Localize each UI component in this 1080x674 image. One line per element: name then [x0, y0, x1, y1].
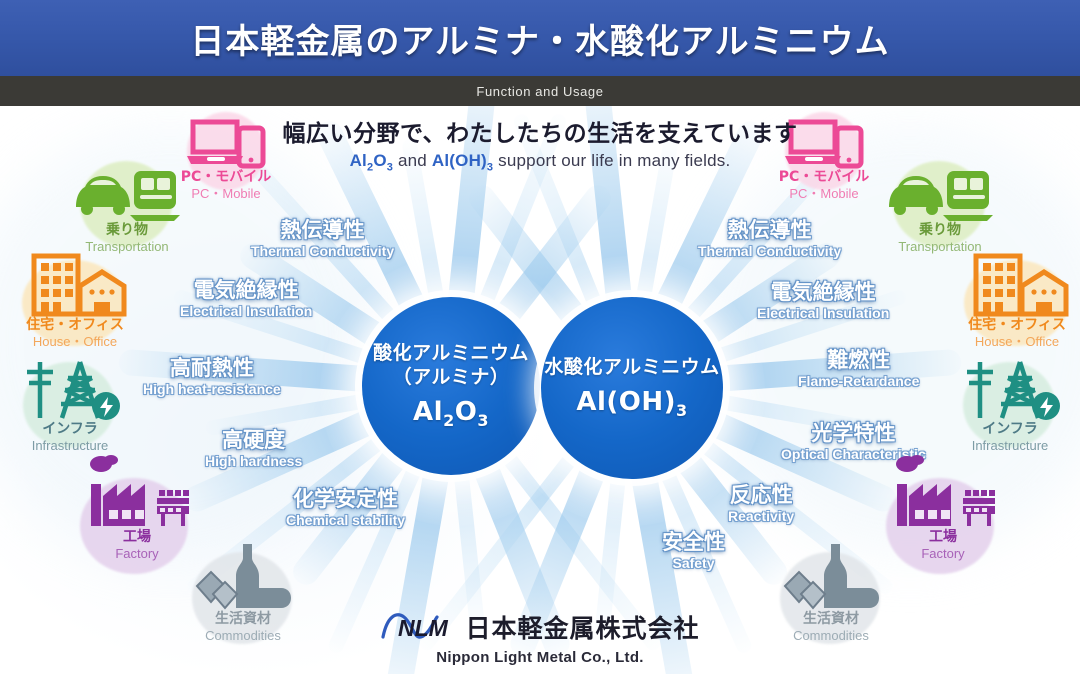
app-label-jp: 工場 [72, 530, 202, 545]
property-jp: 反応性 [728, 483, 794, 507]
property-right-reactivity: 反応性 Reactivity [728, 483, 794, 524]
buildings-icon [10, 256, 140, 318]
property-right-thermal-conductivity: 熱伝導性 Thermal Conductivity [698, 218, 841, 259]
app-label-jp: 生活資材 [178, 612, 308, 627]
property-jp: 熱伝導性 [251, 218, 394, 242]
property-left-high-heat-resistance: 高耐熱性 High heat-resistance [143, 356, 281, 397]
factory-icon [878, 468, 1008, 530]
property-en: Thermal Conductivity [251, 243, 394, 259]
app-label-en: Transportation [875, 239, 1005, 255]
property-left-thermal-conductivity: 熱伝導性 Thermal Conductivity [251, 218, 394, 259]
logo-row: NLM 日本軽金属株式会社 [380, 607, 699, 647]
app-label-jp: 乗り物 [875, 223, 1005, 238]
nlm-logo-mark: NLM [380, 607, 458, 647]
property-en: High heat-resistance [143, 381, 281, 397]
app-label-jp: インフラ [5, 422, 135, 437]
property-jp: 電気絶縁性 [757, 280, 889, 304]
property-left-chemical-stability: 化学安定性 Chemical stability [286, 487, 405, 528]
headline-jp: 幅広い分野で、わたしたちの生活を支えています [0, 114, 1080, 148]
logo-company-en: Nippon Light Metal Co., Ltd. [436, 649, 644, 666]
app-label-jp: 乗り物 [62, 223, 192, 238]
property-en: Electrical Insulation [757, 305, 889, 321]
app-label-en: PC・Mobile [161, 186, 291, 202]
property-jp: 安全性 [662, 530, 725, 554]
app-label-en: House・Office [952, 334, 1080, 350]
core-circle-alumina[interactable]: 酸化アルミニウム （アルミナ） Al2O3 [362, 297, 540, 475]
property-right-flame-retardance: 難燃性 Flame-Retardance [798, 348, 919, 389]
app-right-factory[interactable]: 工場 Factory [878, 468, 1008, 562]
property-en: Safety [662, 555, 725, 571]
app-label-jp: 住宅・オフィス [10, 318, 140, 333]
property-jp: 高耐熱性 [143, 356, 281, 380]
app-label-en: Factory [72, 546, 202, 562]
app-left-factory[interactable]: 工場 Factory [72, 468, 202, 562]
app-left-house-office[interactable]: 住宅・オフィス House・Office [10, 256, 140, 350]
app-label-en: Commodities [178, 628, 308, 644]
app-label-en: House・Office [10, 334, 140, 350]
app-label-en: Factory [878, 546, 1008, 562]
app-label-jp: 住宅・オフィス [952, 318, 1080, 333]
factory-icon [72, 468, 202, 530]
headline-block: 幅広い分野で、わたしたちの生活を支えています Al2O3 and Al(OH)3… [0, 114, 1080, 173]
property-jp: 熱伝導性 [698, 218, 841, 242]
logo-company-jp: 日本軽金属株式会社 [465, 609, 699, 645]
app-left-infrastructure[interactable]: インフラ Infrastructure [5, 360, 135, 454]
app-label-jp: インフラ [945, 422, 1075, 437]
app-right-house-office[interactable]: 住宅・オフィス House・Office [952, 256, 1080, 350]
property-en: Flame-Retardance [798, 373, 919, 389]
app-label-en: PC・Mobile [759, 186, 889, 202]
core-right-jp-line1: 水酸化アルミニウム [544, 356, 719, 380]
headline-en: Al2O3 and Al(OH)3 support our life in ma… [0, 151, 1080, 173]
app-label-jp: 工場 [878, 530, 1008, 545]
app-label-en: Transportation [62, 239, 192, 255]
app-label-en: Infrastructure [945, 438, 1075, 454]
header-banner: 日本軽金属のアルミナ・水酸化アルミニウム [0, 0, 1080, 76]
power-tower-icon [5, 360, 135, 422]
property-right-safety: 安全性 Safety [662, 530, 725, 571]
bottle-gems-icon [766, 550, 896, 612]
property-jp: 化学安定性 [286, 487, 405, 511]
app-label-en: Commodities [766, 628, 896, 644]
core-left-jp-line1: 酸化アルミニウム [373, 342, 529, 366]
app-right-commodities[interactable]: 生活資材 Commodities [766, 550, 896, 644]
property-jp: 高硬度 [205, 428, 302, 452]
property-right-electrical-insulation: 電気絶縁性 Electrical Insulation [757, 280, 889, 321]
app-label-en: Infrastructure [5, 438, 135, 454]
page-title: 日本軽金属のアルミナ・水酸化アルミニウム [190, 14, 889, 63]
header-subbar: Function and Usage [0, 76, 1080, 106]
power-tower-icon [945, 360, 1075, 422]
property-en: Reactivity [728, 508, 794, 524]
diagram-stage: 酸化アルミニウム （アルミナ） Al2O3 水酸化アルミニウム Al(OH)3 … [0, 106, 1080, 674]
core-right-formula: Al(OH)3 [576, 387, 687, 420]
svg-text:NLM: NLM [398, 615, 449, 641]
company-logo: NLM 日本軽金属株式会社 Nippon Light Metal Co., Lt… [0, 607, 1080, 666]
property-en: Thermal Conductivity [698, 243, 841, 259]
property-jp: 電気絶縁性 [180, 278, 312, 302]
app-right-infrastructure[interactable]: インフラ Infrastructure [945, 360, 1075, 454]
infographic-page: 日本軽金属のアルミナ・水酸化アルミニウム Function and Usage … [0, 0, 1080, 674]
property-left-electrical-insulation: 電気絶縁性 Electrical Insulation [180, 278, 312, 319]
property-en: Electrical Insulation [180, 303, 312, 319]
property-en: High hardness [205, 453, 302, 469]
property-jp: 難燃性 [798, 348, 919, 372]
core-circle-aluminium-hydroxide[interactable]: 水酸化アルミニウム Al(OH)3 [541, 297, 723, 479]
app-right-transportation[interactable]: 乗り物 Transportation [875, 161, 1005, 255]
property-left-high-hardness: 高硬度 High hardness [205, 428, 302, 469]
property-en: Chemical stability [286, 512, 405, 528]
core-left-jp-line2: （アルミナ） [393, 366, 510, 390]
header-subtitle: Function and Usage [476, 84, 603, 99]
property-jp: 光学特性 [781, 421, 926, 445]
app-left-commodities[interactable]: 生活資材 Commodities [178, 550, 308, 644]
buildings-icon [952, 256, 1080, 318]
core-left-formula: Al2O3 [413, 397, 489, 430]
app-label-jp: 生活資材 [766, 612, 896, 627]
